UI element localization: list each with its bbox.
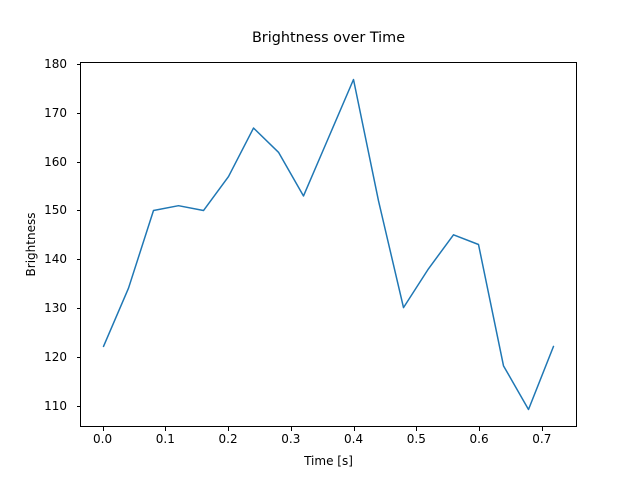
x-tick-mark <box>542 427 543 431</box>
y-tick-label: 180 <box>44 58 67 70</box>
y-tick-mark <box>77 406 81 407</box>
data-series-line <box>103 79 553 409</box>
y-tick-label: 110 <box>44 400 67 412</box>
x-tick-label: 0.4 <box>344 433 363 445</box>
x-tick-label: 0.1 <box>156 433 175 445</box>
y-tick-mark <box>77 162 81 163</box>
y-tick-label: 160 <box>44 156 67 168</box>
x-tick-label: 0.7 <box>532 433 551 445</box>
y-tick-label: 140 <box>44 253 67 265</box>
y-tick-mark <box>77 259 81 260</box>
x-tick-mark <box>103 427 104 431</box>
figure-canvas: Brightness over Time 1101201301401501601… <box>0 0 640 480</box>
y-tick-mark <box>77 113 81 114</box>
x-tick-mark <box>354 427 355 431</box>
y-tick-mark <box>77 64 81 65</box>
y-tick-label: 130 <box>44 302 67 314</box>
x-tick-mark <box>479 427 480 431</box>
chart-title: Brightness over Time <box>80 30 577 47</box>
y-tick-label: 170 <box>44 107 67 119</box>
line-chart-svg <box>81 63 576 426</box>
x-tick-label: 0.0 <box>93 433 112 445</box>
x-tick-mark <box>291 427 292 431</box>
y-tick-label: 120 <box>44 351 67 363</box>
y-tick-mark <box>77 357 81 358</box>
x-tick-label: 0.5 <box>407 433 426 445</box>
x-tick-mark <box>228 427 229 431</box>
x-tick-mark <box>165 427 166 431</box>
x-tick-label: 0.3 <box>281 433 300 445</box>
x-tick-mark <box>416 427 417 431</box>
y-tick-mark <box>77 308 81 309</box>
y-tick-label: 150 <box>44 204 67 216</box>
y-axis-label: Brightness <box>23 62 39 427</box>
x-tick-label: 0.6 <box>470 433 489 445</box>
y-tick-mark <box>77 210 81 211</box>
x-axis-label: Time [s] <box>80 454 577 468</box>
plot-area <box>80 62 577 427</box>
x-tick-label: 0.2 <box>219 433 238 445</box>
